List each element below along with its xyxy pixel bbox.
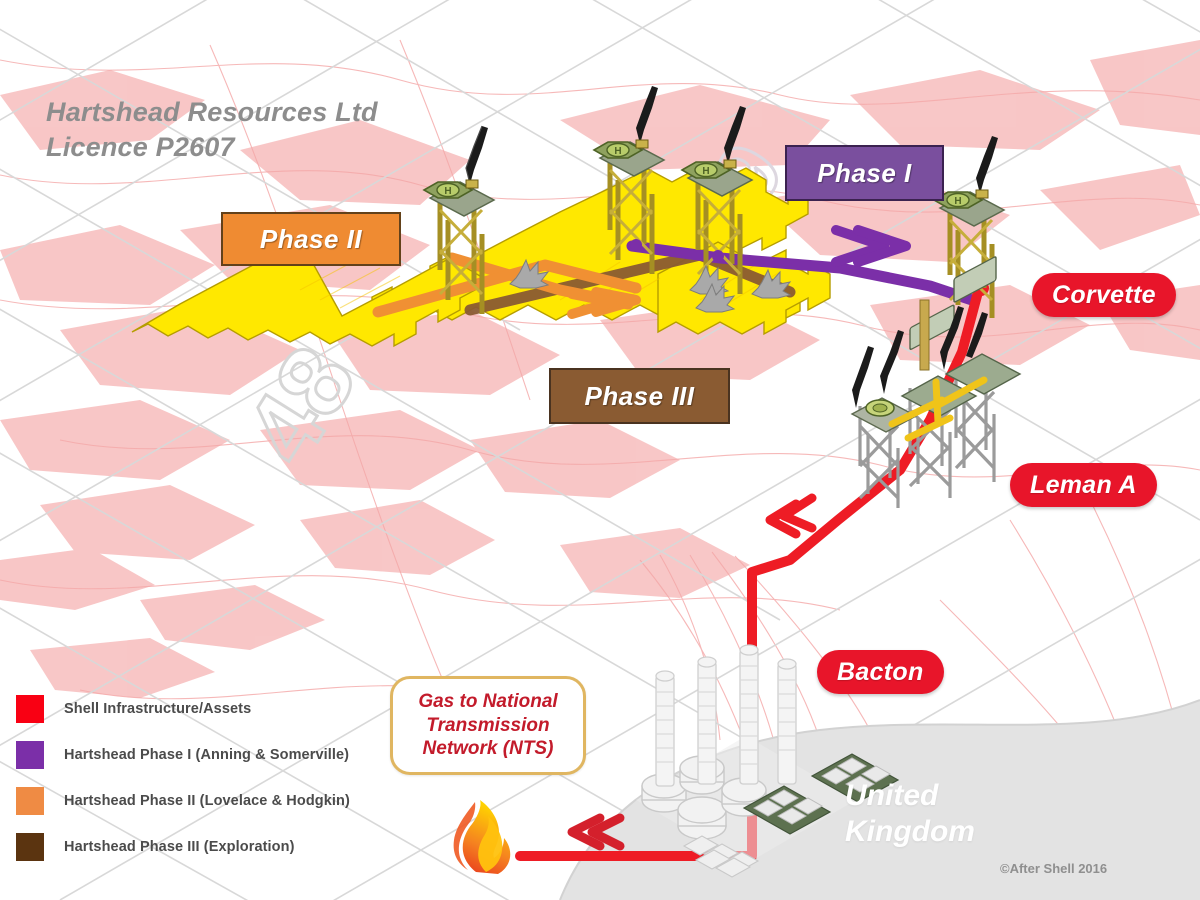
location-label-leman-a[interactable]: Leman A [1010,463,1157,507]
phase-badge-phase-ii[interactable]: Phase II [221,212,401,266]
svg-text:H: H [954,196,961,207]
legend-swatch-phase-i [16,741,44,769]
country-label-uk: United Kingdom [845,778,975,850]
nts-callout: Gas to National Transmission Network (NT… [390,676,586,775]
legend-label-phase-i: Hartshead Phase I (Anning & Somerville) [64,747,349,763]
legend-item-phase-i: Hartshead Phase I (Anning & Somerville) [16,732,406,778]
copyright-credit: ©After Shell 2016 [1000,861,1107,876]
legend-swatch-phase-iii [16,833,44,861]
legend-item-shell: Shell Infrastructure/Assets [16,686,406,732]
flame-icon [454,800,511,874]
svg-text:H: H [614,146,621,157]
svg-text:H: H [702,166,709,177]
location-label-bacton[interactable]: Bacton [817,650,944,694]
legend-label-phase-ii: Hartshead Phase II (Lovelace & Hodgkin) [64,793,350,809]
svg-text:H: H [444,186,451,197]
legend-item-phase-iii: Hartshead Phase III (Exploration) [16,824,406,870]
legend-label-shell: Shell Infrastructure/Assets [64,701,251,717]
legend-swatch-phase-ii [16,787,44,815]
diagram-canvas: 48 49 [0,0,1200,900]
legend-item-phase-ii: Hartshead Phase II (Lovelace & Hodgkin) [16,778,406,824]
legend-label-phase-iii: Hartshead Phase III (Exploration) [64,839,295,855]
phase-badge-phase-iii[interactable]: Phase III [549,368,730,424]
page-title: Hartshead Resources Ltd Licence P2607 [46,95,378,164]
phase-badge-phase-i[interactable]: Phase I [785,145,944,201]
legend-swatch-shell [16,695,44,723]
legend: Shell Infrastructure/Assets Hartshead Ph… [16,686,406,870]
location-label-corvette[interactable]: Corvette [1032,273,1176,317]
